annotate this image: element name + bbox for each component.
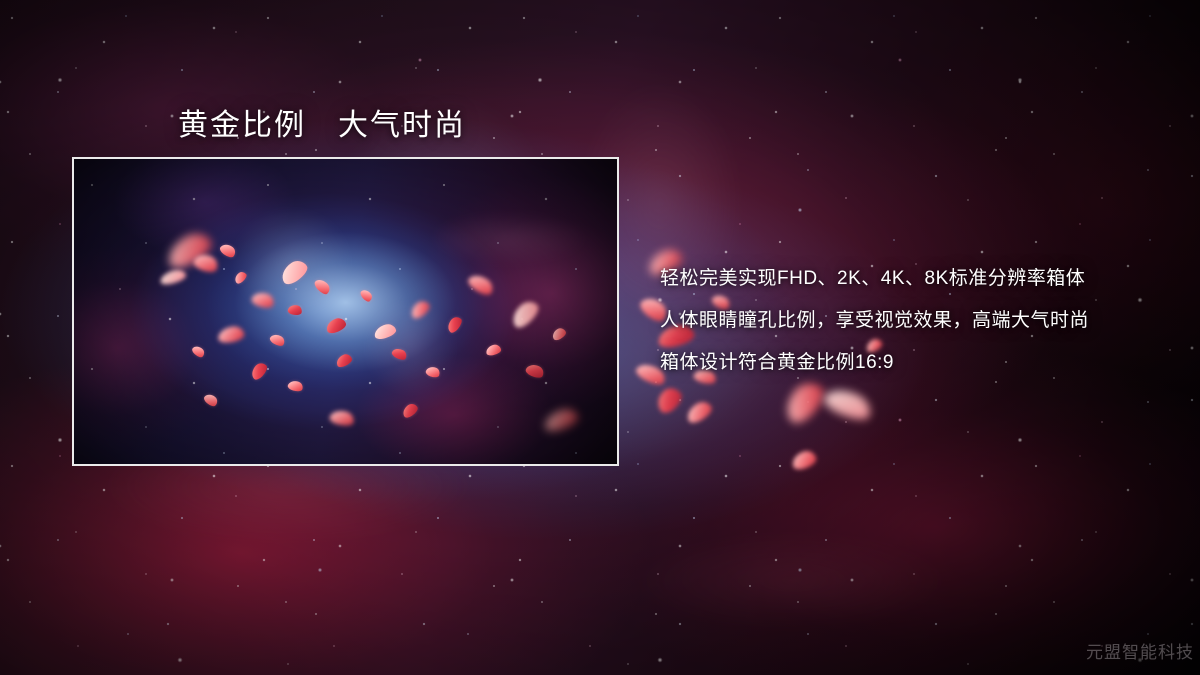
slide-title: 黄金比例 大气时尚 <box>178 100 466 144</box>
body-line-2: 人体眼睛瞳孔比例，享受视觉效果，高端大气时尚 <box>660 300 1180 342</box>
presentation-slide: 黄金比例 大气时尚 <box>0 0 1200 675</box>
body-line-1: 轻松完美实现FHD、2K、4K、8K标准分辨率箱体 <box>660 258 1180 300</box>
photo-vignette <box>74 159 617 464</box>
watermark-text: 元盟智能科技 <box>1086 638 1194 663</box>
framed-image <box>72 157 619 466</box>
body-line-3: 箱体设计符合黄金比例16:9 <box>660 342 1180 384</box>
body-text-block: 轻松完美实现FHD、2K、4K、8K标准分辨率箱体 人体眼睛瞳孔比例，享受视觉效… <box>660 258 1180 384</box>
